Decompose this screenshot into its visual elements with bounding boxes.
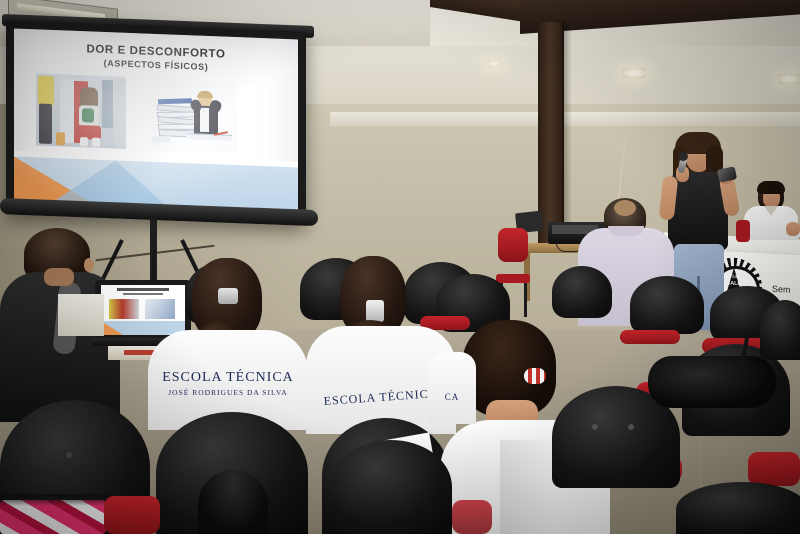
projected-slide: DOR E DESCONFORTO (ASPECTOS FÍSICOS)	[14, 29, 298, 218]
student-2-hairclip-icon	[366, 300, 384, 322]
back-chair-legs-2	[524, 283, 527, 317]
student-3-shirt-fold	[500, 440, 552, 534]
foreground-chair-center-screws-2	[628, 424, 634, 430]
wooden-column	[538, 22, 564, 252]
foreground-chair-bottom-left-screw	[66, 452, 72, 458]
foreground-seat-bottom-left	[104, 496, 160, 534]
bag-on-chair[interactable]	[648, 356, 776, 408]
slide-photo-athlete	[36, 73, 126, 148]
column-shadow	[562, 22, 572, 252]
microphone-head	[678, 152, 688, 161]
bag-shadow-overlay	[0, 494, 108, 506]
seated-man-bald-spot	[614, 200, 636, 216]
foreground-chair-center-screws	[592, 424, 598, 430]
student-3-hairtie-icon	[524, 368, 546, 384]
back-chair-backrest[interactable]	[498, 228, 528, 262]
recessed-ceiling-light-3	[487, 60, 501, 67]
student-4-shirt-text: CA	[428, 392, 476, 402]
head-table-person-arm	[786, 222, 800, 236]
front-left-man-ear	[84, 258, 94, 272]
front-left-man-neck	[44, 268, 74, 286]
student-1-hairclip-icon	[218, 288, 238, 304]
chair-seat-bg-5	[748, 452, 800, 486]
chair-row3-5[interactable]	[552, 266, 612, 318]
chair-seat-bg-2	[620, 330, 680, 344]
recessed-ceiling-light-1	[622, 68, 646, 78]
foreground-chair-bottom-center[interactable]	[330, 440, 452, 534]
student-1-shirt-text: ESCOLA TÉCNICA	[148, 370, 308, 386]
recessed-ceiling-light-2	[778, 74, 800, 84]
student-4-shirt	[428, 352, 476, 424]
back-chair-seat	[496, 274, 530, 283]
student-1-chair-detail	[198, 470, 268, 534]
foreground-chair-far-right[interactable]	[760, 300, 800, 360]
head-table-person-hair-front	[757, 181, 785, 194]
wall-box	[58, 294, 104, 336]
chair-row3-6[interactable]	[630, 276, 704, 334]
foreground-chair-bottom-right[interactable]	[676, 482, 800, 534]
student-1-shirt-subtext: JOSÉ RODRIGUES DA SILVA	[148, 388, 308, 397]
auditorium-photo: DOR E DESCONFORTO (ASPECTOS FÍSICOS)	[0, 0, 800, 534]
foreground-seat-center	[452, 500, 492, 534]
banner-right-text: Sem	[772, 284, 791, 295]
laptop-screen	[101, 285, 185, 335]
seated-man-collar	[608, 226, 644, 236]
head-table-chair[interactable]	[736, 220, 750, 242]
slide-photo-stressed-worker	[150, 78, 238, 153]
